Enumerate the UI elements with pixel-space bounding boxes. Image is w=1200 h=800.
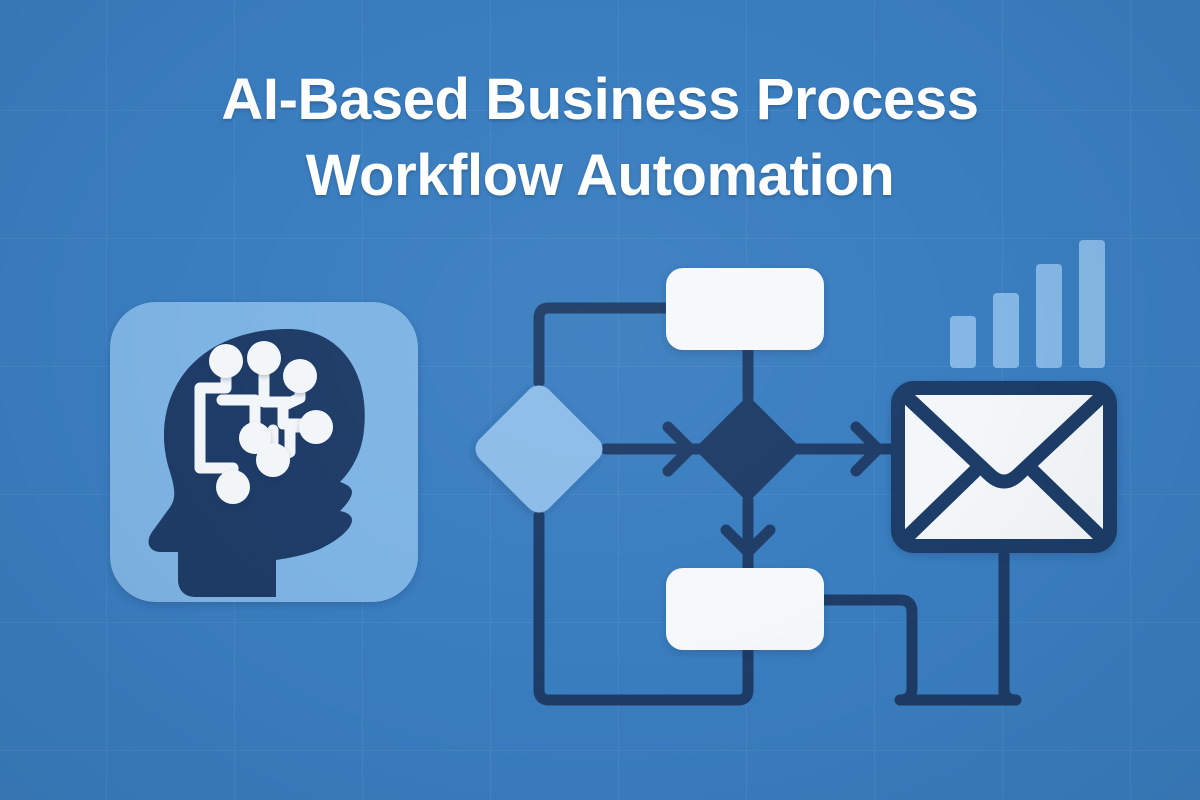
task-box-bottom-shape [666,568,824,650]
decision-diamond-shape [470,380,609,519]
circuit-node [283,359,317,393]
flow-node-decision-input[interactable] [470,380,609,519]
route-diamond-shape [694,395,801,502]
connector-feedback-top [539,308,666,382]
email-envelope-icon[interactable] [898,388,1110,546]
flow-node-task-bottom[interactable] [666,568,824,650]
bar-2 [993,293,1019,368]
circuit-node [299,410,333,444]
flow-node-decision-route[interactable] [694,395,801,502]
task-box-top-shape [666,268,824,350]
circuit-node [247,341,281,375]
bar-1 [950,316,976,368]
connector-task-to-email [824,558,1016,700]
circuit-node [256,443,290,477]
artwork-layer [0,0,1200,800]
poster-canvas: AI-Based Business Process Workflow Autom… [0,0,1200,800]
circuit-node [209,344,243,378]
bar-4 [1079,240,1105,368]
circuit-node [216,470,250,504]
bar-3 [1036,264,1062,368]
flow-node-task-top[interactable] [666,268,824,350]
ai-brain-head-icon [110,302,418,602]
growth-bar-chart [950,240,1105,368]
